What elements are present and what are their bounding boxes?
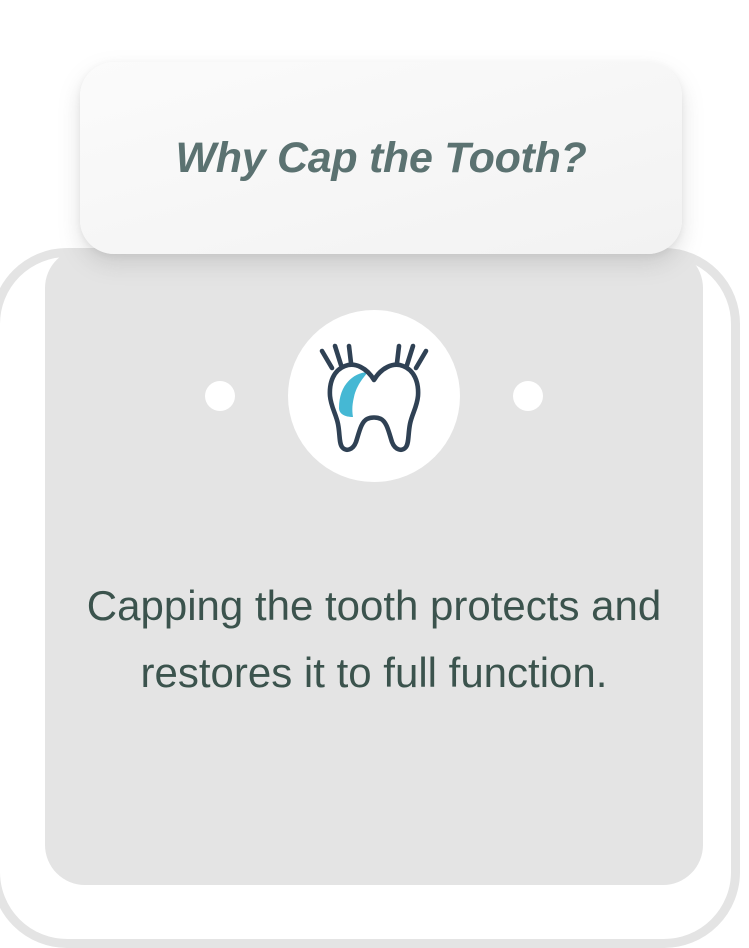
page-title: Why Cap the Tooth? bbox=[176, 134, 587, 183]
card-body-text: Capping the tooth protects and restores … bbox=[85, 572, 663, 706]
tooth-highlight bbox=[339, 372, 368, 417]
header-pill: Why Cap the Tooth? bbox=[80, 62, 682, 254]
decorative-dot-left-icon bbox=[205, 381, 235, 411]
icon-row bbox=[45, 310, 703, 482]
tooth-sparkle-glyph bbox=[309, 337, 439, 455]
decorative-dot-right-icon bbox=[513, 381, 543, 411]
tooth-sparkle-icon bbox=[288, 310, 460, 482]
